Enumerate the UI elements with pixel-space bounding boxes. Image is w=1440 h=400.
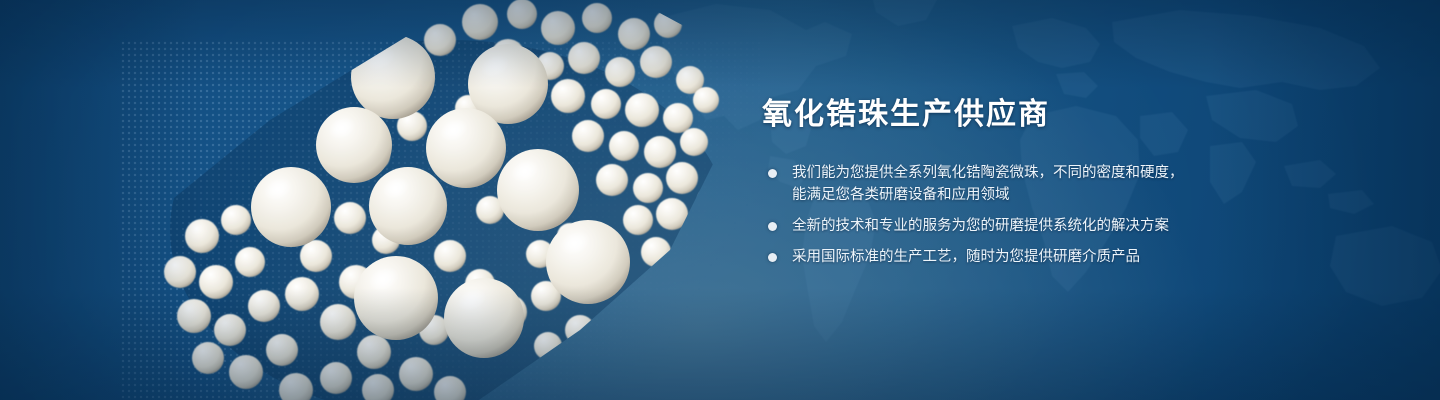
banner-bullet-list: 我们能为您提供全系列氧化锆陶瓷微珠，不同的密度和硬度， 能满足您各类研磨设备和应…: [760, 162, 1320, 268]
bullet-dot-icon: [768, 222, 777, 231]
bullet-dot-icon: [768, 169, 777, 178]
bullet-item-3: 采用国际标准的生产工艺，随时为您提供研磨介质产品: [760, 246, 1320, 268]
bullet-line: 全新的技术和专业的服务为您的研磨提供系统化的解决方案: [792, 215, 1320, 237]
bullet-item-2: 全新的技术和专业的服务为您的研磨提供系统化的解决方案: [760, 215, 1320, 237]
hero-banner: 氧化锆珠生产供应商 我们能为您提供全系列氧化锆陶瓷微珠，不同的密度和硬度， 能满…: [0, 0, 1440, 400]
bullet-line: 能满足您各类研磨设备和应用领域: [792, 184, 1320, 206]
bullet-line: 采用国际标准的生产工艺，随时为您提供研磨介质产品: [792, 246, 1320, 268]
banner-copy: 氧化锆珠生产供应商 我们能为您提供全系列氧化锆陶瓷微珠，不同的密度和硬度， 能满…: [760, 100, 1320, 268]
banner-headline: 氧化锆珠生产供应商: [762, 100, 1320, 130]
bullet-dot-icon: [768, 253, 777, 262]
bullet-line: 我们能为您提供全系列氧化锆陶瓷微珠，不同的密度和硬度，: [792, 162, 1320, 184]
bullet-item-1: 我们能为您提供全系列氧化锆陶瓷微珠，不同的密度和硬度， 能满足您各类研磨设备和应…: [760, 162, 1320, 206]
